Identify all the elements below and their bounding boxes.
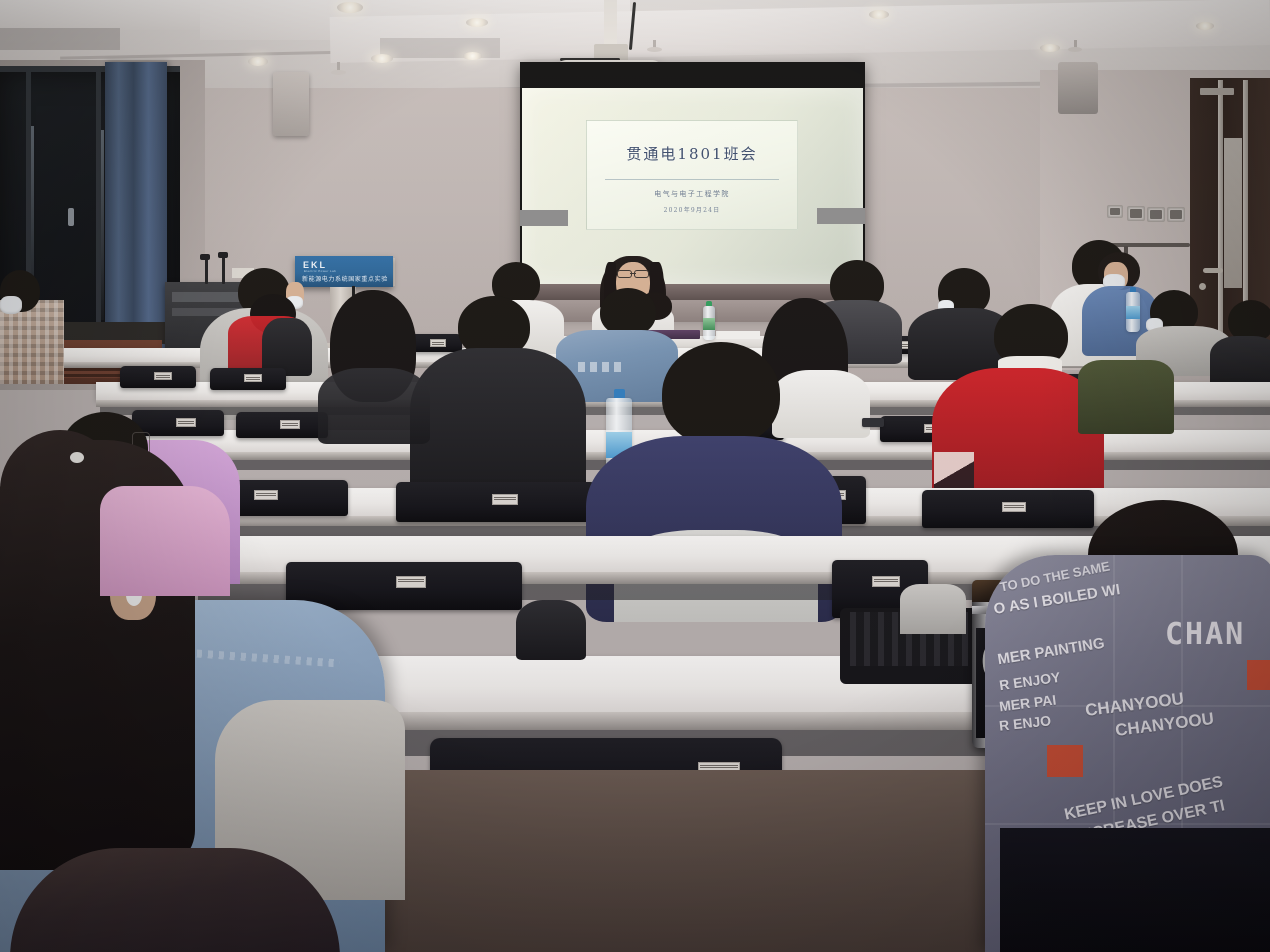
student-body — [1078, 360, 1174, 434]
student-body — [900, 584, 966, 634]
student-body — [1210, 336, 1270, 386]
ceiling-downlight — [463, 52, 482, 60]
podium-banner-text: 新能源电力系统国家重点实验室 — [302, 274, 388, 283]
tshirt-text-line-6: R ENJO — [998, 712, 1052, 733]
ceiling-downlight — [1196, 22, 1214, 30]
slide-title: 贯通电1801班会 — [587, 143, 797, 164]
window-curtain[interactable] — [105, 62, 167, 362]
wall-outlet[interactable] — [1107, 205, 1123, 218]
ceiling-vent — [0, 28, 120, 50]
window-handle[interactable] — [68, 208, 74, 226]
ceiling-downlight — [248, 57, 268, 66]
screen-side-tab — [817, 208, 865, 224]
student-pink-sleeve — [100, 486, 230, 596]
jacket-print — [578, 362, 624, 372]
microphone-head-icon — [200, 254, 210, 260]
sprinkler-head — [647, 47, 662, 52]
ceiling-vent — [380, 38, 500, 58]
sprinkler-head — [331, 70, 346, 75]
door-handle[interactable] — [1203, 268, 1223, 273]
chair-back-foreground — [1000, 828, 1270, 952]
hair-tie — [70, 452, 84, 463]
smartphone[interactable] — [862, 418, 884, 427]
student-head — [662, 342, 780, 446]
door-plate — [1200, 88, 1234, 95]
tshirt-text-line-5: MER PAI — [998, 692, 1057, 715]
water-bottle[interactable] — [703, 306, 715, 340]
ceiling-downlight — [869, 10, 889, 19]
tshirt-text-line-4: R ENJOY — [998, 669, 1061, 693]
paper-stack[interactable] — [716, 331, 760, 339]
microphone-head-icon — [218, 252, 228, 258]
chair — [396, 482, 596, 522]
slide-subtitle-department: 电气与电子工程学院 — [587, 189, 797, 199]
sprinkler-head — [1068, 47, 1082, 52]
slide-subtitle-date: 2020年9月24日 — [587, 205, 797, 214]
wall-rail — [1108, 243, 1190, 247]
screen-side-tab — [520, 210, 568, 226]
chair — [210, 368, 286, 390]
slide-divider — [605, 179, 779, 180]
door-lock-icon[interactable] — [1199, 283, 1206, 290]
podium: EKL Electric Power Lab 新能源电力系统国家重点实验室 — [295, 256, 393, 287]
face-mask — [0, 296, 22, 314]
presenter-glasses-icon — [617, 270, 649, 276]
chair — [922, 490, 1094, 528]
tshirt-text-line-3: MER PAINTING — [996, 635, 1105, 669]
microphone-stand — [222, 256, 225, 284]
microphone-stand — [205, 258, 208, 284]
classroom-photo: EPSON 贯通电1801班会 电气与电子工程学院 2020年9月24日 EKL… — [0, 0, 1270, 952]
podium-logo-subtitle: Electric Power Lab — [304, 269, 336, 273]
door-jamb — [1218, 80, 1223, 368]
wall-outlet[interactable] — [1127, 206, 1145, 221]
student-body — [318, 368, 430, 444]
student-head — [600, 288, 656, 336]
student-body — [516, 600, 586, 660]
ceiling-downlight — [466, 18, 488, 27]
slide-content: 贯通电1801班会 电气与电子工程学院 2020年9月24日 — [586, 120, 798, 230]
window-glint — [101, 130, 104, 320]
wall-speaker — [273, 72, 309, 136]
projector-mount-pole — [604, 0, 617, 48]
chair — [120, 366, 196, 388]
wall-speaker — [1058, 62, 1098, 114]
water-bottle[interactable] — [1126, 292, 1140, 332]
student-body — [772, 370, 870, 438]
ceiling-downlight — [1040, 44, 1060, 52]
projection-screen: 贯通电1801班会 电气与电子工程学院 2020年9月24日 — [522, 88, 863, 284]
tshirt-brand-logo: CHAN — [1165, 617, 1245, 652]
ceiling-downlight — [371, 54, 393, 63]
ceiling-downlight — [337, 2, 363, 13]
wall-outlet[interactable] — [1167, 207, 1185, 222]
chair — [286, 562, 522, 610]
door-window — [1224, 138, 1242, 288]
chair — [236, 412, 328, 438]
wall-outlet[interactable] — [1147, 207, 1165, 222]
